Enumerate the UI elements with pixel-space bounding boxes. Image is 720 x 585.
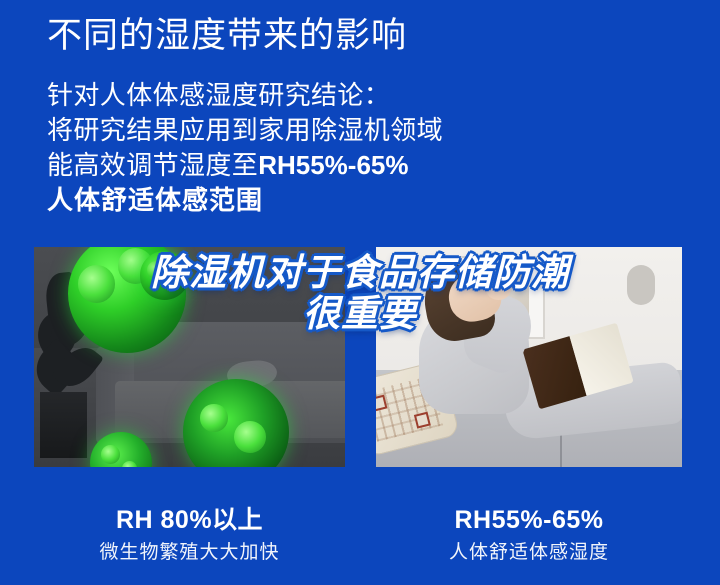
page-title: 不同的湿度带来的影响	[47, 14, 407, 58]
intro-line-3: 能高效调节湿度至RH55%-65%	[47, 148, 477, 183]
intro-line-2: 将研究结果应用到家用除湿机领域	[47, 113, 477, 148]
intro-text-block: 针对人体体感湿度研究结论： 将研究结果应用到家用除湿机领域 能高效调节湿度至RH…	[47, 78, 477, 218]
wall-speaker-icon	[627, 265, 655, 305]
dark-room-photo	[34, 247, 345, 467]
intro-line-3-prefix: 能高效调节湿度至	[47, 150, 258, 180]
caption-high-humidity-sub: 微生物繁殖大大加快	[34, 541, 345, 565]
person-hand	[486, 278, 510, 300]
intro-line-4: 人体舒适体感范围	[47, 183, 477, 218]
light-room-photo	[376, 247, 682, 467]
poster-root: 不同的湿度带来的影响 针对人体体感湿度研究结论： 将研究结果应用到家用除湿机领域…	[0, 0, 720, 585]
intro-line-1: 针对人体体感湿度研究结论：	[47, 78, 477, 113]
photo-panel-high-humidity	[34, 247, 345, 467]
caption-comfort-humidity: RH55%-65% 人体舒适体感湿度	[376, 505, 682, 565]
plant-pot	[40, 392, 87, 458]
caption-comfort-humidity-sub: 人体舒适体感湿度	[376, 541, 682, 565]
caption-comfort-humidity-title: RH55%-65%	[376, 505, 682, 535]
caption-high-humidity: RH 80%以上 微生物繁殖大大加快	[34, 505, 345, 565]
caption-high-humidity-title: RH 80%以上	[34, 505, 345, 535]
intro-line-3-humidity-range: RH55%-65%	[258, 150, 408, 180]
photo-panel-comfort-humidity	[376, 247, 682, 467]
microbe-cluster-icon	[140, 251, 190, 299]
